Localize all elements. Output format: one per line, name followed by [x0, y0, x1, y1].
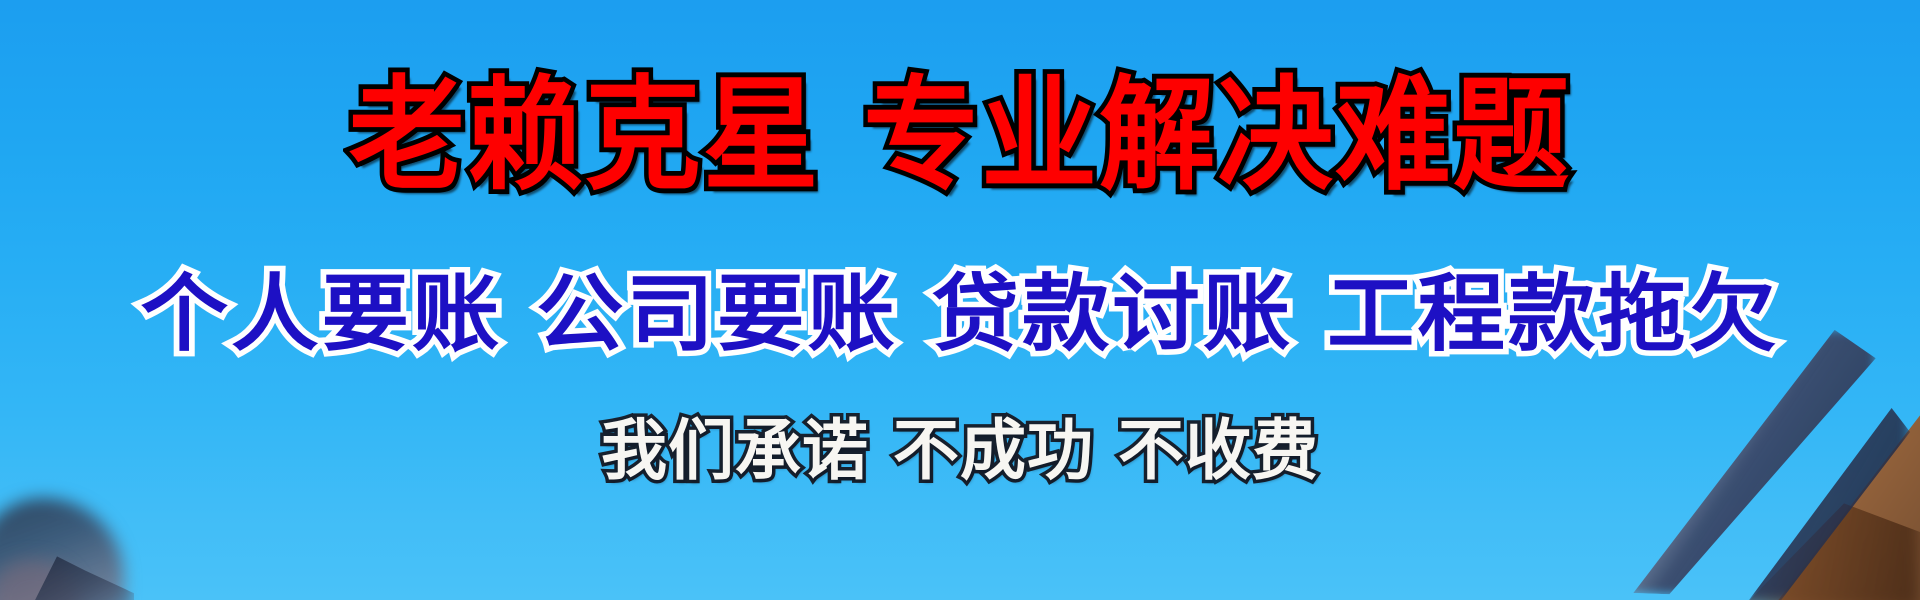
- banner-services-list: 个人要账 公司要账 贷款讨账 工程款拖欠: [0, 272, 1920, 356]
- banner-text-stack: 老赖克星 专业解决难题 个人要账 公司要账 贷款讨账 工程款拖欠 我们承诺 不成…: [0, 0, 1920, 600]
- banner-headline: 老赖克星 专业解决难题: [0, 75, 1920, 198]
- banner-promise-text: 我们承诺 不成功 不收费: [0, 418, 1920, 484]
- promo-banner: 老赖克星 专业解决难题 个人要账 公司要账 贷款讨账 工程款拖欠 我们承诺 不成…: [0, 0, 1920, 600]
